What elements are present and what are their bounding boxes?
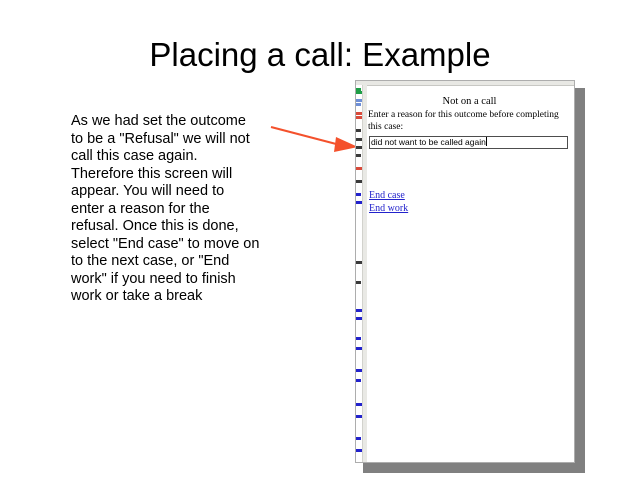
reason-input-value: did not want to be called again — [371, 137, 486, 147]
sidebar-text-fragment — [356, 138, 362, 141]
sidebar-text-fragment — [356, 91, 362, 94]
sidebar-text-fragment — [356, 103, 361, 106]
sidebar-text-fragment — [356, 309, 362, 312]
sidebar-text-fragment — [356, 146, 362, 149]
sidebar-text-fragment — [356, 449, 362, 452]
sidebar-text-fragment — [356, 347, 362, 350]
sidebar-text-fragment — [356, 437, 361, 440]
sidebar-text-fragment — [356, 415, 362, 418]
sidebar-text-fragment — [356, 116, 362, 119]
call-status-heading: Not on a call — [367, 96, 572, 107]
app-content-pane: Not on a call Enter a reason for this ou… — [367, 86, 575, 463]
sidebar-text-fragment — [356, 317, 362, 320]
sidebar-text-fragment — [356, 403, 362, 406]
action-links-group: End case End work — [369, 189, 489, 215]
sidebar-text-fragment — [356, 99, 362, 102]
sidebar-text-fragment — [356, 154, 361, 157]
sidebar-text-fragment — [356, 129, 361, 132]
sidebar-text-fragment — [356, 369, 362, 372]
sidebar-text-fragment — [356, 193, 361, 196]
end-work-link[interactable]: End work — [369, 202, 489, 215]
sidebar-text-fragment — [356, 112, 362, 115]
slide-body-text: As we had set the outcome to be a "Refus… — [71, 113, 261, 306]
text-caret — [486, 137, 487, 146]
clipped-sidebar[interactable] — [356, 85, 363, 463]
sidebar-text-fragment — [356, 379, 361, 382]
reason-prompt-label: Enter a reason for this outcome before c… — [368, 110, 574, 133]
sidebar-text-fragment — [356, 337, 361, 340]
sidebar-text-fragment — [356, 261, 362, 264]
sidebar-text-fragment — [356, 180, 362, 183]
app-window: Not on a call Enter a reason for this ou… — [355, 80, 575, 463]
callout-arrow-icon — [262, 114, 368, 160]
embedded-app-screenshot: Not on a call Enter a reason for this ou… — [355, 80, 577, 465]
sidebar-text-fragment — [356, 201, 362, 204]
page-title: Placing a call: Example — [0, 36, 640, 74]
sidebar-text-fragment — [356, 167, 362, 170]
end-case-link[interactable]: End case — [369, 189, 489, 202]
reason-input[interactable]: did not want to be called again — [369, 136, 568, 149]
sidebar-text-fragment — [356, 281, 361, 284]
